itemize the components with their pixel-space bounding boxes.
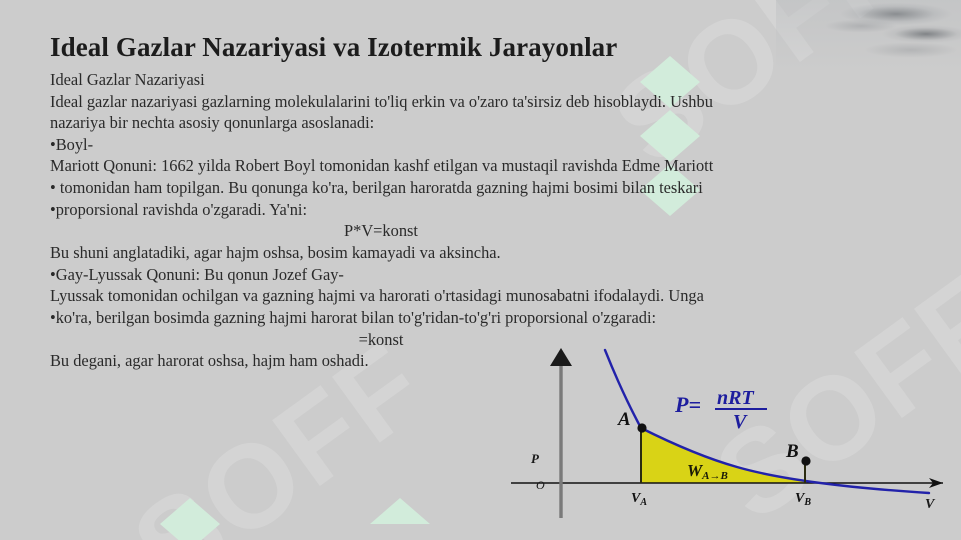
- body-line-anglatadiki: Bu shuni anglatadiki, agar hajm oshsa, b…: [50, 242, 792, 264]
- point-a-label: A: [617, 409, 631, 430]
- logo-diamond-icon-8: [160, 524, 220, 540]
- point-b-marker: [801, 456, 810, 465]
- v-axis-label: V: [925, 497, 936, 512]
- body-line-lyussak: Lyussak tomonidan ochilgan va gazning ha…: [50, 285, 792, 307]
- origin-label: O: [536, 478, 545, 492]
- body-line-mariott: Mariott Qonuni: 1662 yilda Robert Boyl t…: [50, 155, 792, 177]
- page-title: Ideal Gazlar Nazariyasi va Izotermik Jar…: [50, 32, 792, 64]
- logo-diamond-icon-7: [160, 498, 220, 524]
- slide-text-content: Ideal Gazlar Nazariyasi va Izotermik Jar…: [50, 32, 792, 372]
- bullet-kora: •ko'ra, berilgan bosimda gazning hajmi h…: [50, 307, 792, 329]
- ink-wash-mountain-image: [776, 0, 961, 72]
- slide-canvas: SOFF SOFF SOFF Ideal Gazlar Nazariyasi v…: [0, 0, 961, 540]
- subtitle-line: Ideal Gazlar Nazariyasi: [50, 69, 792, 91]
- point-a-marker: [637, 423, 646, 432]
- p-axis-label: P: [531, 451, 540, 466]
- bullet-gay-lyussak: •Gay-Lyussak Qonuni: Bu qonun Jozef Gay-: [50, 264, 792, 286]
- equation-lhs: P=: [674, 392, 701, 417]
- p-axis-arrow-icon: [550, 348, 572, 366]
- formula-pv-konst: P*V=konst: [0, 220, 762, 242]
- body-line-1: Ideal gazlar nazariyasi gazlarning molek…: [50, 91, 792, 113]
- bullet-proporsional: •proporsional ravishda o'zgaradi. Ya'ni:: [50, 199, 792, 221]
- pv-isotherm-diagram: P V O A B VA VB WA→B P= nRT V: [505, 340, 961, 540]
- bullet-boyl: •Boyl-: [50, 134, 792, 156]
- equation-numerator: nRT: [717, 387, 754, 409]
- curve-equation-label: P= nRT V: [674, 387, 767, 433]
- logo-diamond-icon-9: [370, 498, 430, 524]
- vb-tick-label: VB: [795, 491, 811, 508]
- va-tick-label: VA: [631, 491, 647, 508]
- point-b-label: B: [785, 441, 799, 462]
- body-line-2: nazariya bir nechta asosiy qonunlarga as…: [50, 112, 792, 134]
- bullet-tomonidan: • tomonidan ham topilgan. Bu qonunga ko'…: [50, 177, 792, 199]
- equation-denominator: V: [733, 411, 748, 433]
